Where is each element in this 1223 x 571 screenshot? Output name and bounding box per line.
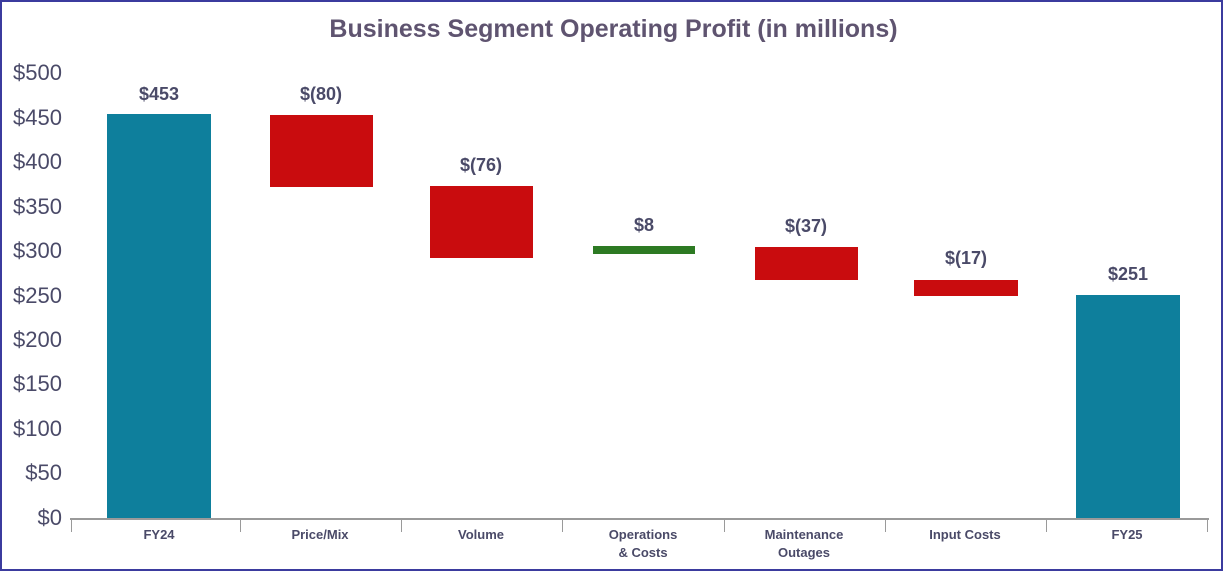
waterfall-chart: Business Segment Operating Profit (in mi…: [0, 0, 1223, 571]
y-axis: $500 $450 $400 $350 $300 $250 $200 $150 …: [2, 2, 62, 571]
x-label-price-mix-line1: Price/Mix: [291, 526, 348, 544]
axis-tick-4: [724, 519, 725, 532]
axis-tick-start: [71, 519, 72, 532]
axis-tick-end: [1207, 519, 1208, 532]
axis-tick-2: [401, 519, 402, 532]
y-tick-0: $0: [6, 505, 62, 531]
x-label-input-costs-line1: Input Costs: [929, 526, 1001, 544]
data-label-price-mix: $(80): [300, 84, 342, 105]
bar-price-mix[interactable]: [270, 115, 373, 187]
x-label-input-costs: Input Costs: [929, 526, 1001, 544]
y-tick-200: $200: [6, 327, 62, 353]
bar-volume[interactable]: [430, 186, 533, 258]
y-tick-150: $150: [6, 371, 62, 397]
axis-tick-1: [240, 519, 241, 532]
data-label-input-costs: $(17): [945, 248, 987, 269]
x-label-maintenance-outages-line1: Maintenance: [765, 526, 844, 544]
x-label-fy25-line1: FY25: [1111, 526, 1142, 544]
x-label-operations-costs: Operations & Costs: [609, 526, 678, 562]
bar-maintenance-outages[interactable]: [755, 247, 858, 280]
x-label-fy25: FY25: [1111, 526, 1142, 544]
y-tick-250: $250: [6, 283, 62, 309]
x-label-operations-costs-line1: Operations: [609, 526, 678, 544]
bar-fy24[interactable]: [107, 114, 211, 518]
y-tick-500: $500: [6, 60, 62, 86]
y-tick-300: $300: [6, 238, 62, 264]
axis-tick-3: [562, 519, 563, 532]
x-label-maintenance-outages-line2: Outages: [765, 544, 844, 562]
x-label-volume-line1: Volume: [458, 526, 504, 544]
y-tick-450: $450: [6, 105, 62, 131]
x-label-fy24-line1: FY24: [143, 526, 174, 544]
y-tick-100: $100: [6, 416, 62, 442]
x-label-price-mix: Price/Mix: [291, 526, 348, 544]
x-label-maintenance-outages: Maintenance Outages: [765, 526, 844, 562]
data-label-operations-costs: $8: [634, 215, 654, 236]
y-tick-350: $350: [6, 194, 62, 220]
y-tick-400: $400: [6, 149, 62, 175]
plot-area: $453 $(80) $(76) $8 $(37) $(17) $251: [70, 2, 1209, 571]
data-label-volume: $(76): [460, 155, 502, 176]
bar-operations-costs[interactable]: [593, 246, 695, 254]
y-tick-50: $50: [6, 460, 62, 486]
data-label-maintenance-outages: $(37): [785, 216, 827, 237]
data-label-fy25: $251: [1108, 264, 1148, 285]
axis-tick-6: [1046, 519, 1047, 532]
x-label-volume: Volume: [458, 526, 504, 544]
bar-input-costs[interactable]: [914, 280, 1018, 296]
data-label-fy24: $453: [139, 84, 179, 105]
x-label-operations-costs-line2: & Costs: [609, 544, 678, 562]
axis-tick-5: [885, 519, 886, 532]
x-label-fy24: FY24: [143, 526, 174, 544]
bar-fy25[interactable]: [1076, 295, 1180, 518]
